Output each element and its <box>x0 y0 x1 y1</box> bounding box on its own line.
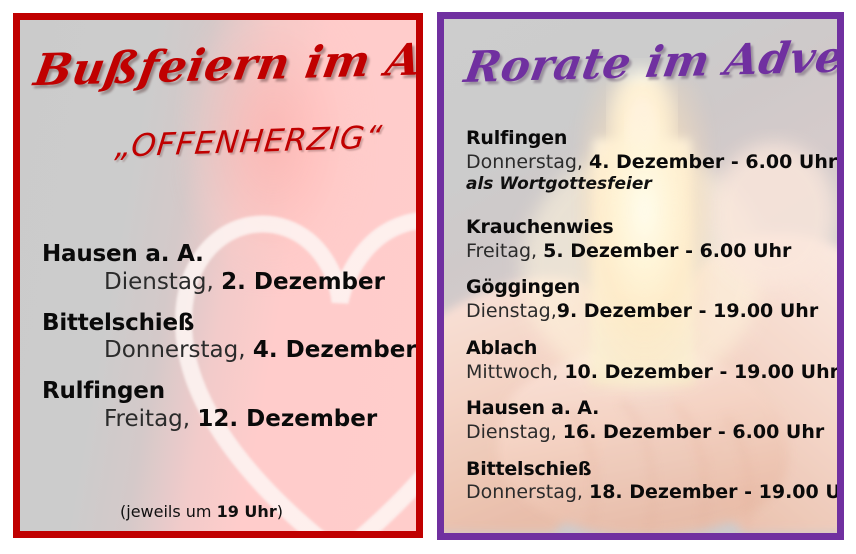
place-name: Krauchenwies <box>466 216 831 239</box>
day-month-time: 5. Dezember - 6.00 Uhr <box>543 240 791 262</box>
note-suffix: ) <box>277 502 283 521</box>
date-line: Mittwoch, 10. Dezember - 19.00 Uhr <box>466 360 831 385</box>
date-line: Donnerstag, 18. Dezember - 19.00 Uhr <box>466 480 831 505</box>
weekday: Dienstag, <box>466 421 563 443</box>
busfeiern-schedule-list: Hausen a. A. Dienstag, 2. Dezember Bitte… <box>42 242 406 448</box>
weekday: Freitag, <box>104 406 197 432</box>
place-name: Hausen a. A. <box>42 242 406 268</box>
busfeiern-time-note: (jeweils um 19 Uhr) <box>120 502 283 521</box>
list-item: Rulfingen Donnerstag, 4. Dezember - 6.00… <box>466 127 831 196</box>
rorate-content: Rorate im Advent Rulfingen Donnerstag, 4… <box>444 19 837 533</box>
date-line: Freitag, 12. Dezember <box>104 405 406 434</box>
rorate-panel-inner: Rorate im Advent Rulfingen Donnerstag, 4… <box>444 19 837 533</box>
busfeiern-panel-inner: Bußfeiern im Advent „OFFENHERZIG“ Hausen… <box>20 20 416 531</box>
rorate-schedule-list: Rulfingen Donnerstag, 4. Dezember - 6.00… <box>466 127 831 518</box>
date-line: Dienstag, 2. Dezember <box>104 268 406 297</box>
day-month-time: 4. Dezember - 6.00 Uhr <box>589 151 837 173</box>
list-item: Göggingen Dienstag,9. Dezember - 19.00 U… <box>466 276 831 323</box>
day-month: 2. Dezember <box>221 269 385 295</box>
busfeiern-panel: Bußfeiern im Advent „OFFENHERZIG“ Hausen… <box>13 13 423 538</box>
list-item: Ablach Mittwoch, 10. Dezember - 19.00 Uh… <box>466 337 831 384</box>
place-name: Rulfingen <box>466 127 831 150</box>
place-name: Bittelschieß <box>42 311 406 337</box>
weekday: Donnerstag, <box>466 481 589 503</box>
note-prefix: (jeweils um <box>120 502 217 521</box>
day-month-time: 18. Dezember - 19.00 Uhr <box>589 481 837 503</box>
day-month: 4. Dezember <box>253 337 416 363</box>
weekday: Mittwoch, <box>466 361 564 383</box>
weekday: Dienstag, <box>466 300 557 322</box>
date-line: Donnerstag, 4. Dezember - 6.00 Uhr <box>466 150 831 175</box>
day-month-time: 9. Dezember - 19.00 Uhr <box>557 300 818 322</box>
weekday: Freitag, <box>466 240 543 262</box>
note-time: 19 Uhr <box>217 502 277 521</box>
entry-note: als Wortgottesfeier <box>466 174 831 195</box>
busfeiern-subtitle: „OFFENHERZIG“ <box>114 119 385 164</box>
weekday: Donnerstag, <box>104 337 253 363</box>
rorate-panel: Rorate im Advent Rulfingen Donnerstag, 4… <box>437 12 844 540</box>
list-item: Rulfingen Freitag, 12. Dezember <box>42 379 406 434</box>
list-item: Bittelschieß Donnerstag, 18. Dezember - … <box>466 458 831 505</box>
day-month-time: 16. Dezember - 6.00 Uhr <box>563 421 824 443</box>
place-name: Rulfingen <box>42 379 406 405</box>
date-line: Dienstag,9. Dezember - 19.00 Uhr <box>466 299 831 324</box>
advent-poster: Bußfeiern im Advent „OFFENHERZIG“ Hausen… <box>0 0 856 554</box>
day-month-time: 10. Dezember - 19.00 Uhr <box>564 361 837 383</box>
date-line: Donnerstag, 4. Dezember <box>104 336 406 365</box>
place-name: Ablach <box>466 337 831 360</box>
place-name: Bittelschieß <box>466 458 831 481</box>
list-item: Hausen a. A. Dienstag, 2. Dezember <box>42 242 406 297</box>
list-item: Hausen a. A. Dienstag, 16. Dezember - 6.… <box>466 397 831 444</box>
place-name: Hausen a. A. <box>466 397 831 420</box>
list-item: Krauchenwies Freitag, 5. Dezember - 6.00… <box>466 216 831 263</box>
rorate-title: Rorate im Advent <box>461 31 837 93</box>
list-item: Bittelschieß Donnerstag, 4. Dezember <box>42 311 406 366</box>
day-month: 12. Dezember <box>197 406 377 432</box>
busfeiern-title: Bußfeiern im Advent <box>30 31 416 97</box>
date-line: Freitag, 5. Dezember - 6.00 Uhr <box>466 239 831 264</box>
busfeiern-content: Bußfeiern im Advent „OFFENHERZIG“ Hausen… <box>20 20 416 531</box>
weekday: Donnerstag, <box>466 151 589 173</box>
date-line: Dienstag, 16. Dezember - 6.00 Uhr <box>466 420 831 445</box>
place-name: Göggingen <box>466 276 831 299</box>
weekday: Dienstag, <box>104 269 221 295</box>
